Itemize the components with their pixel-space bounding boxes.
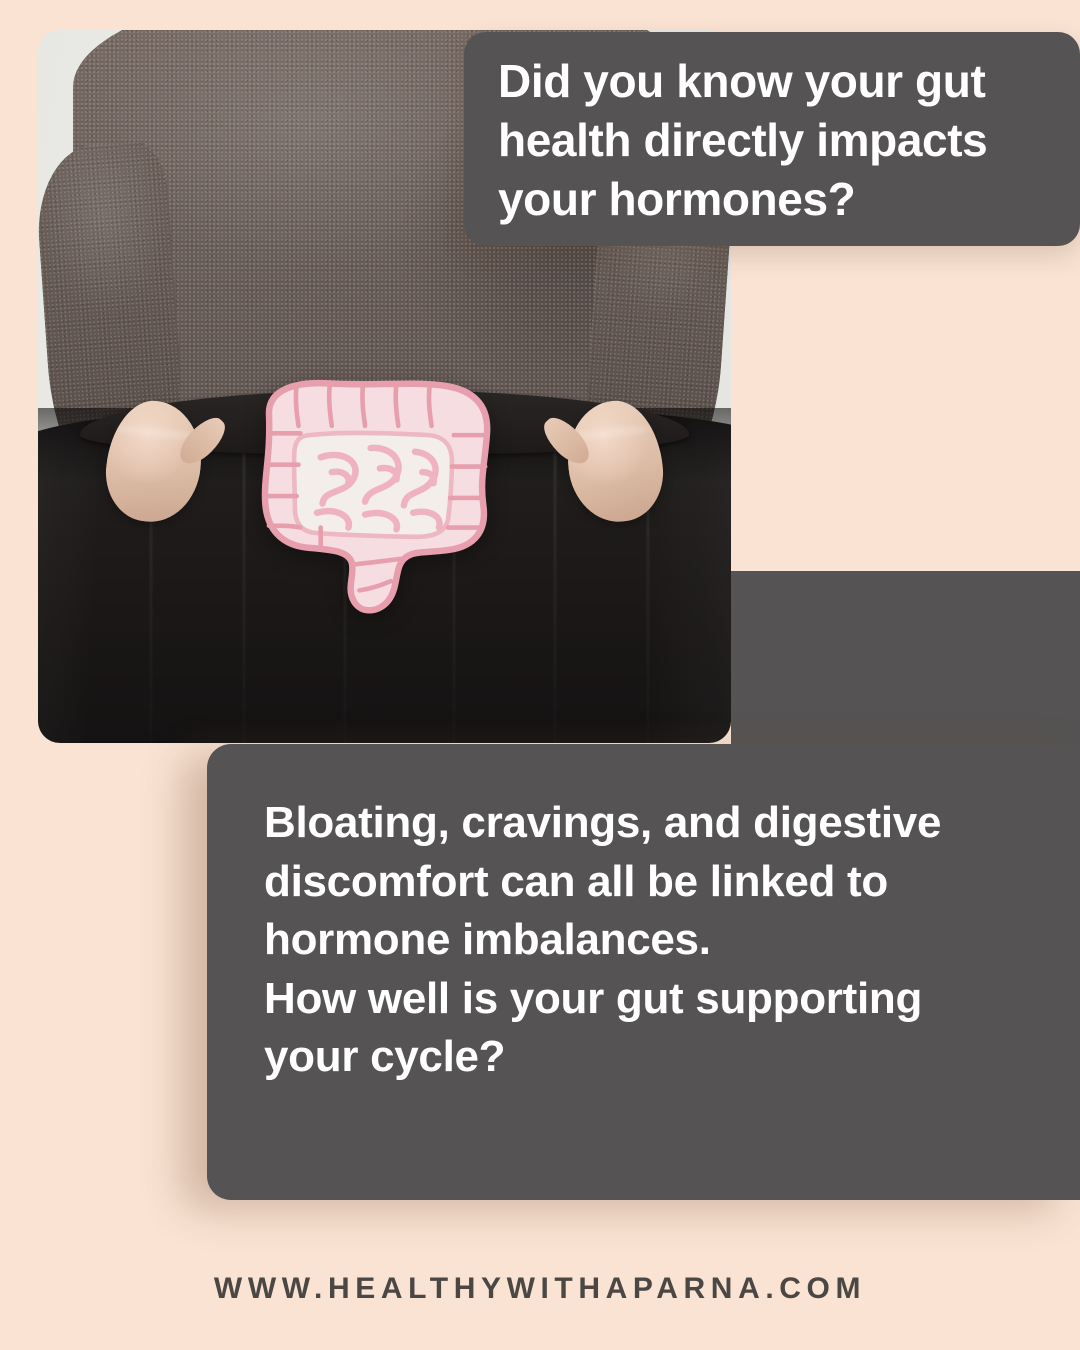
headline-panel: Did you know your gut health directly im… xyxy=(464,32,1080,246)
right-accent-block xyxy=(731,571,1080,771)
intestine-paper-cutout xyxy=(232,365,509,622)
footer-website-url[interactable]: WWW.HEALTHYWITHAPARNA.COM xyxy=(0,1272,1080,1306)
headline-text: Did you know your gut health directly im… xyxy=(498,52,1058,229)
body-text: Bloating, cravings, and digestive discom… xyxy=(264,794,960,1087)
knuckle-shading xyxy=(572,423,651,441)
skirt-pleat xyxy=(554,428,556,743)
social-post-canvas: Did you know your gut health directly im… xyxy=(0,0,1080,1350)
body-panel: Bloating, cravings, and digestive discom… xyxy=(207,744,1080,1200)
